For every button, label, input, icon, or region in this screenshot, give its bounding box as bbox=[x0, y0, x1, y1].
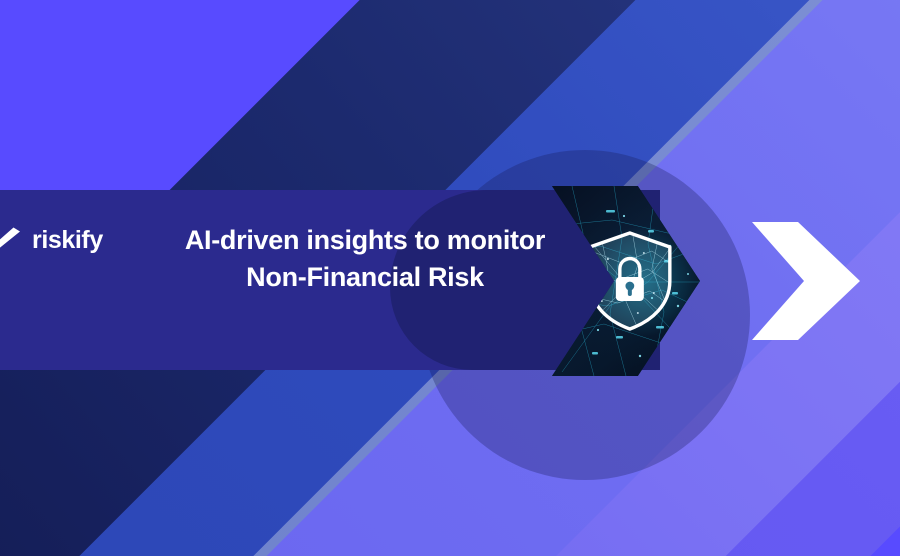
headline-line-1: AI-driven insights to monitor bbox=[150, 222, 580, 259]
page-title: AI-driven insights to monitor Non-Financ… bbox=[150, 222, 580, 295]
marketing-banner: riskify AI-driven insights to monitor No… bbox=[0, 0, 900, 556]
brand-logo[interactable]: riskify bbox=[0, 222, 103, 258]
check-swoosh-icon bbox=[0, 226, 26, 254]
headline-line-2: Non-Financial Risk bbox=[150, 259, 580, 296]
brand-name: riskify bbox=[32, 228, 103, 253]
chevron-right-icon bbox=[752, 222, 860, 340]
